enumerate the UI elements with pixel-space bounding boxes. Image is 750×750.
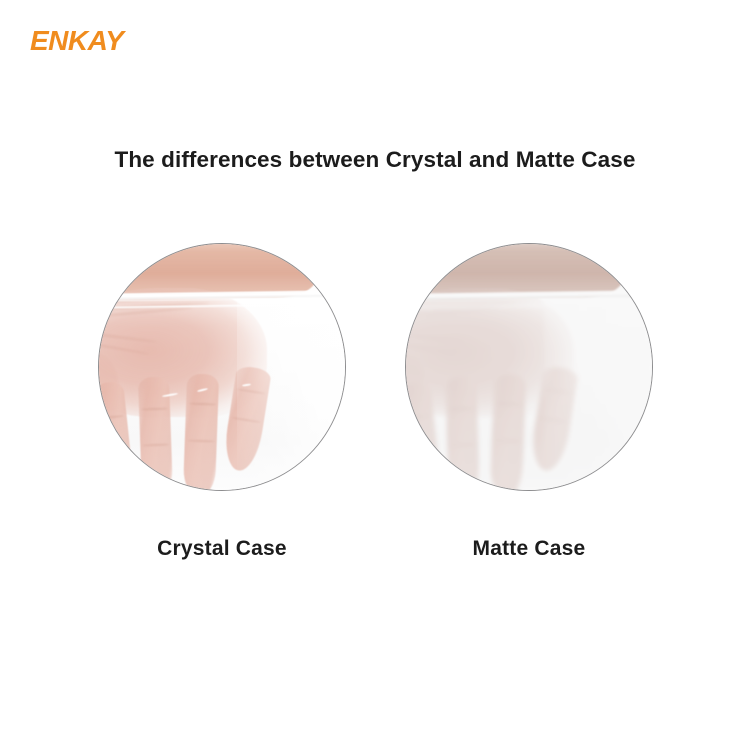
matte-case-photo [405, 243, 653, 491]
enkay-logo: ENKAY [30, 27, 123, 55]
matte-scene [405, 243, 653, 491]
crystal-case-photo [98, 243, 346, 491]
comparison-item-matte [405, 243, 653, 491]
caption-crystal-case: Crystal Case [98, 537, 346, 561]
comparison-row [0, 243, 750, 503]
comparison-item-crystal [98, 243, 346, 491]
product-comparison-page: ENKAY The differences between Crystal an… [0, 0, 750, 750]
crystal-scene [98, 243, 346, 491]
page-title: The differences between Crystal and Matt… [0, 146, 750, 173]
case-light-reflection [237, 298, 346, 491]
caption-matte-case: Matte Case [405, 537, 653, 561]
case-light-reflection [544, 298, 653, 491]
